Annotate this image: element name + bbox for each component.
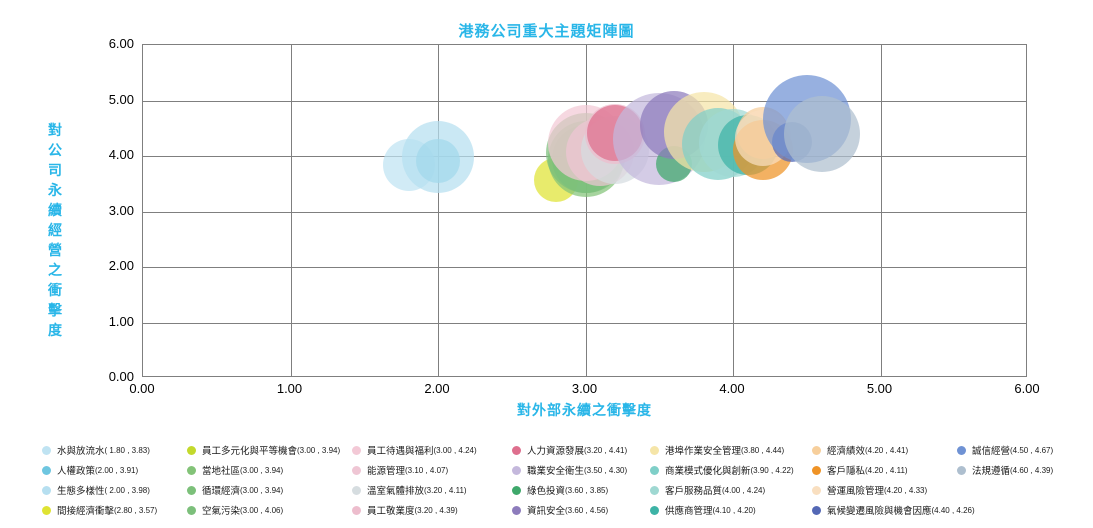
legend-swatch-icon [650,466,659,475]
bubble-point [534,158,578,202]
x-tick-label: 6.00 [992,381,1062,396]
bubble-point [737,107,789,159]
gridline-horizontal [143,212,1026,213]
legend-item[interactable]: 水與放流水( 1.80 , 3.83) [42,440,157,460]
x-tick-label: 0.00 [107,381,177,396]
legend-item-value: ( 1.80 , 3.83) [105,446,150,455]
legend-item-value: (4.20 , 4.11) [865,466,908,475]
legend-item-label: 員工多元化與平等機會 [202,443,297,457]
legend-swatch-icon [812,466,821,475]
legend-item[interactable]: 溫室氣體排放(3.20 , 4.11) [352,480,477,500]
y-tick-label: 2.00 [72,258,134,273]
legend-item[interactable]: 法規遵循(4.60 , 4.39) [957,460,1053,480]
legend-swatch-icon [42,506,51,515]
legend-item[interactable]: 綠色投資(3.60 , 3.85) [512,480,627,500]
legend-item[interactable]: 營運風險管理(4.20 , 4.33) [812,480,975,500]
legend-item[interactable]: 生態多樣性( 2.00 , 3.98) [42,480,157,500]
legend-column: 誠信經營(4.50 , 4.67)法規遵循(4.60 , 4.39) [957,440,1053,480]
gridline-vertical [438,45,439,376]
legend-swatch-icon [650,506,659,515]
legend-item[interactable]: 員工敬業度(3.20 , 4.39) [352,500,477,520]
x-tick-label: 5.00 [845,381,915,396]
x-tick-label: 2.00 [402,381,472,396]
legend-item-label: 能源管理 [367,463,405,477]
legend-swatch-icon [352,446,361,455]
legend-column: 港埠作業安全管理(3.80 , 4.44)商業模式優化與創新(3.90 , 4.… [650,440,794,520]
legend-item-label: 港埠作業安全管理 [665,443,741,457]
y-tick-label: 4.00 [72,147,134,162]
legend-item-label: 循環經濟 [202,483,240,497]
legend-item-label: 客戶隱私 [827,463,865,477]
gridline-vertical [733,45,734,376]
legend-item[interactable]: 客戶服務品質(4.00 , 4.24) [650,480,794,500]
legend-swatch-icon [957,446,966,455]
legend-item-label: 水與放流水 [57,443,105,457]
legend-swatch-icon [187,486,196,495]
y-axis-title: 對公司永續經營之衝擊度 [44,120,66,340]
legend-item-value: (4.60 , 4.39) [1010,466,1053,475]
chart-legend: 水與放流水( 1.80 , 3.83)人權政策(2.00 , 3.91)生態多樣… [22,440,1082,522]
legend-swatch-icon [512,446,521,455]
legend-item[interactable]: 職業安全衛生(3.50 , 4.30) [512,460,627,480]
legend-item-label: 生態多樣性 [57,483,105,497]
bubble-point [718,115,778,175]
legend-swatch-icon [187,446,196,455]
legend-item[interactable]: 員工多元化與平等機會(3.00 , 3.94) [187,440,340,460]
gridline-horizontal [143,156,1026,157]
y-tick-label: 6.00 [72,36,134,51]
legend-swatch-icon [42,486,51,495]
legend-item-label: 空氣污染 [202,503,240,517]
gridline-vertical [586,45,587,376]
legend-item-value: (3.00 , 4.24) [434,446,477,455]
legend-swatch-icon [812,486,821,495]
legend-column: 經濟績效(4.20 , 4.41)客戶隱私(4.20 , 4.11)營運風險管理… [812,440,975,520]
legend-item-value: (3.10 , 4.07) [405,466,448,475]
legend-item-value: (3.60 , 3.85) [565,486,608,495]
bubble-point [682,108,754,180]
legend-swatch-icon [352,486,361,495]
legend-item-value: (3.20 , 4.39) [415,506,458,515]
legend-item-label: 間接經濟衝擊 [57,503,114,517]
legend-item[interactable]: 人力資源發展(3.20 , 4.41) [512,440,627,460]
legend-column: 水與放流水( 1.80 , 3.83)人權政策(2.00 , 3.91)生態多樣… [42,440,157,520]
legend-item-value: (3.00 , 3.94) [297,446,340,455]
legend-swatch-icon [42,466,51,475]
legend-item-label: 職業安全衛生 [527,463,584,477]
bubble-point [566,118,634,186]
bubble-point [784,96,860,172]
legend-item-value: (3.80 , 4.44) [741,446,784,455]
gridline-horizontal [143,101,1026,102]
legend-item-value: (3.00 , 3.94) [240,486,283,495]
legend-item-label: 經濟績效 [827,443,865,457]
legend-item[interactable]: 港埠作業安全管理(3.80 , 4.44) [650,440,794,460]
legend-item[interactable]: 人權政策(2.00 , 3.91) [42,460,157,480]
legend-column: 人力資源發展(3.20 , 4.41)職業安全衛生(3.50 , 4.30)綠色… [512,440,627,520]
bubble-point [664,92,744,172]
bubble-point [587,105,643,161]
legend-item-label: 供應商管理 [665,503,713,517]
x-tick-label: 3.00 [550,381,620,396]
y-tick-label: 3.00 [72,203,134,218]
legend-swatch-icon [650,446,659,455]
legend-item-value: (4.00 , 4.24) [722,486,765,495]
legend-item-value: (3.20 , 4.41) [584,446,627,455]
legend-swatch-icon [512,466,521,475]
y-tick-label: 5.00 [72,92,134,107]
gridline-vertical [881,45,882,376]
legend-item-label: 員工待遇與福利 [367,443,434,457]
legend-item-label: 人權政策 [57,463,95,477]
legend-item[interactable]: 間接經濟衝擊(2.80 , 3.57) [42,500,157,520]
legend-column: 員工多元化與平等機會(3.00 , 3.94)當地社區(3.00 , 3.94)… [187,440,340,520]
legend-item-label: 氣候變遷風險與機會因應 [827,503,932,517]
legend-swatch-icon [957,466,966,475]
legend-item-value: ( 2.00 , 3.98) [105,486,150,495]
legend-item-label: 商業模式優化與創新 [665,463,751,477]
legend-item-label: 資訊安全 [527,503,565,517]
legend-item[interactable]: 供應商管理(4.10 , 4.20) [650,500,794,520]
legend-swatch-icon [812,446,821,455]
bubble-point [581,116,649,184]
gridline-horizontal [143,267,1026,268]
legend-item-label: 當地社區 [202,463,240,477]
legend-item[interactable]: 能源管理(3.10 , 4.07) [352,460,477,480]
legend-item[interactable]: 員工待遇與福利(3.00 , 4.24) [352,440,477,460]
legend-item-label: 人力資源發展 [527,443,584,457]
legend-item-value: (4.40 , 4.26) [932,506,975,515]
bubble-point [383,139,435,191]
bubble-point [733,120,793,180]
legend-item[interactable]: 氣候變遷風險與機會因應(4.40 , 4.26) [812,500,975,520]
gridline-vertical [291,45,292,376]
legend-item[interactable]: 商業模式優化與創新(3.90 , 4.22) [650,460,794,480]
legend-item-label: 員工敬業度 [367,503,415,517]
legend-item-label: 溫室氣體排放 [367,483,424,497]
legend-item[interactable]: 客戶隱私(4.20 , 4.11) [812,460,975,480]
gridline-horizontal [143,323,1026,324]
legend-swatch-icon [42,446,51,455]
chart-title: 港務公司重大主題矩陣圖 [0,20,1093,41]
legend-item[interactable]: 誠信經營(4.50 , 4.67) [957,440,1053,460]
x-tick-label: 1.00 [255,381,325,396]
legend-item[interactable]: 資訊安全(3.60 , 4.56) [512,500,627,520]
bubble-point [656,146,692,182]
legend-item-label: 營運風險管理 [827,483,884,497]
legend-item-value: (4.50 , 4.67) [1010,446,1053,455]
y-tick-label: 1.00 [72,314,134,329]
legend-item-label: 綠色投資 [527,483,565,497]
legend-swatch-icon [352,506,361,515]
legend-swatch-icon [187,506,196,515]
legend-item-value: (3.20 , 4.11) [424,486,467,495]
bubble-point [735,110,791,166]
legend-item-value: (2.80 , 3.57) [114,506,157,515]
legend-item[interactable]: 經濟績效(4.20 , 4.41) [812,440,975,460]
legend-item-value: (3.60 , 4.56) [565,506,608,515]
bubble-point [763,75,851,163]
legend-item-value: (3.00 , 3.94) [240,466,283,475]
legend-item[interactable]: 循環經濟(3.00 , 3.94) [187,480,340,500]
legend-item[interactable]: 空氣污染(3.00 , 4.06) [187,500,340,520]
legend-swatch-icon [187,466,196,475]
legend-item-label: 客戶服務品質 [665,483,722,497]
legend-item-label: 法規遵循 [972,463,1010,477]
legend-swatch-icon [352,466,361,475]
x-tick-label: 4.00 [697,381,767,396]
bubble-point [613,93,705,185]
legend-swatch-icon [812,506,821,515]
plot-area [142,44,1027,377]
legend-item-value: (4.20 , 4.41) [865,446,908,455]
legend-column: 員工待遇與福利(3.00 , 4.24)能源管理(3.10 , 4.07)溫室氣… [352,440,477,520]
legend-item-value: (3.50 , 4.30) [584,466,627,475]
legend-item-value: (3.90 , 4.22) [751,466,794,475]
legend-item-value: (3.00 , 4.06) [240,506,283,515]
legend-item-label: 誠信經營 [972,443,1010,457]
legend-swatch-icon [512,506,521,515]
legend-item-value: (2.00 , 3.91) [95,466,138,475]
legend-item[interactable]: 當地社區(3.00 , 3.94) [187,460,340,480]
legend-item-value: (4.10 , 4.20) [713,506,756,515]
legend-item-value: (4.20 , 4.33) [884,486,927,495]
x-axis-title: 對外部永續之衝擊度 [142,400,1027,420]
legend-swatch-icon [650,486,659,495]
chart-root: 港務公司重大主題矩陣圖 對公司永續經營之衝擊度 0.001.002.003.00… [0,0,1093,528]
legend-swatch-icon [512,486,521,495]
